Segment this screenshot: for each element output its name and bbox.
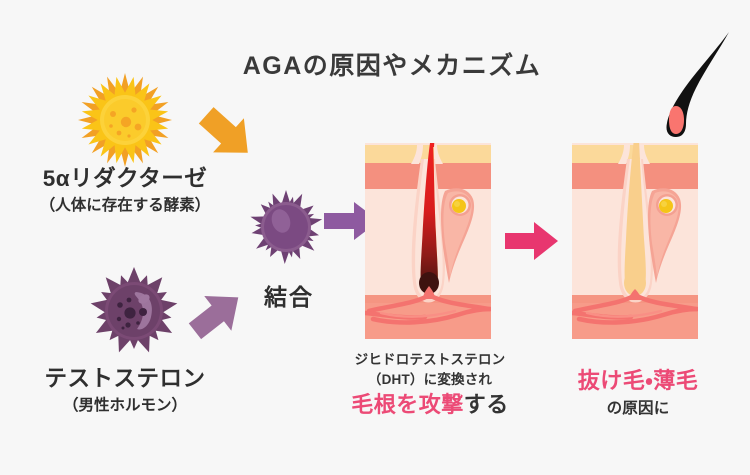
panel-right-caption-highlight: 抜け毛・薄毛 — [578, 368, 698, 393]
arrow-enzyme-to-binding — [195, 103, 259, 165]
scalp-cross-section-attacked — [365, 143, 491, 339]
enzyme-cell-icon — [72, 72, 178, 168]
fallen-hair-icon — [655, 28, 733, 140]
dht-cell-icon — [247, 188, 325, 266]
scalp-cross-section-thinning — [572, 143, 698, 339]
panel-right-caption-line2: の原因に — [538, 398, 738, 420]
arrow-follicle-to-hairloss — [505, 221, 559, 261]
enzyme-sublabel: （人体に存在する酵素） — [0, 196, 250, 216]
testosterone-sublabel: （男性ホルモン） — [0, 396, 250, 416]
panel-left-caption-rest: する — [464, 392, 509, 417]
panel-left-caption-line1: ジヒドロテストステロン — [330, 350, 530, 370]
infographic-canvas: AGAの原因やメカニズム — [0, 0, 750, 475]
panel-left-caption-highlight: 毛根を攻撃 — [351, 392, 464, 417]
panel-left-caption-line2: （DHT）に変換され — [330, 370, 530, 390]
testosterone-label: テストステロン — [0, 366, 250, 391]
panel-left-caption-line3: 毛根を攻撃する — [330, 392, 530, 417]
testosterone-cell-icon — [84, 264, 184, 358]
enzyme-label: 5αリダクターゼ — [0, 166, 250, 191]
binding-label: 結合 — [234, 278, 344, 312]
panel-right-caption-line1: 抜け毛・薄毛 — [538, 368, 738, 393]
